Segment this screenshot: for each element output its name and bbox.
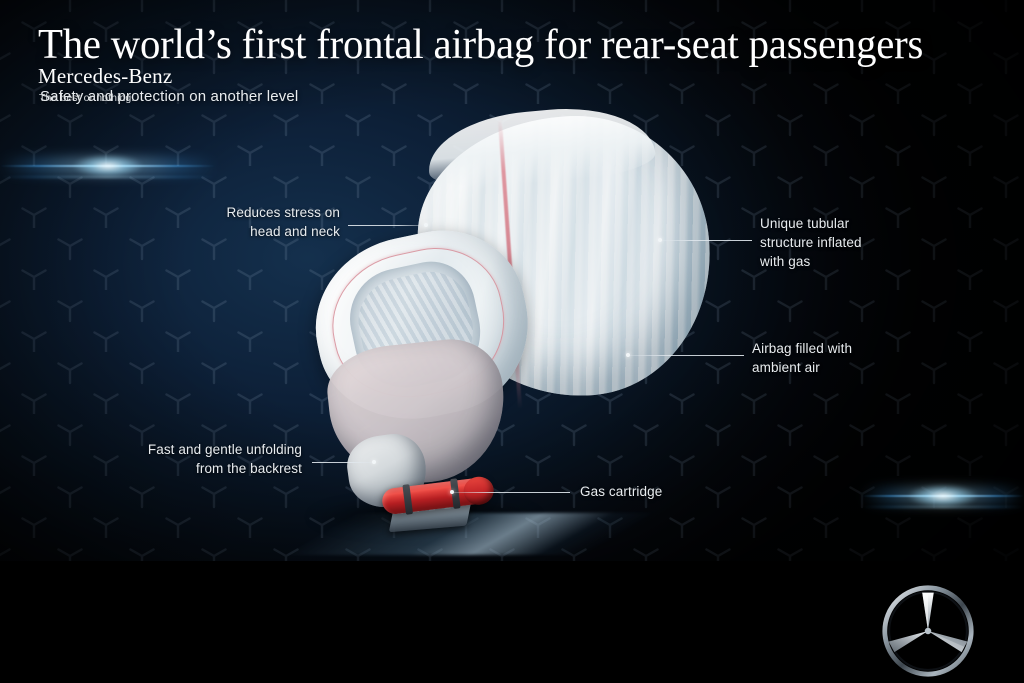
leader-dot-fast-unfolding (372, 460, 376, 464)
footer-bar (0, 561, 1024, 683)
page-title: The world’s first frontal airbag for rea… (38, 20, 923, 70)
infographic-root: Reduces stress on head and neck Unique t… (0, 0, 1024, 683)
callout-unique-tubular: Unique tubular structure inflated with g… (760, 214, 930, 271)
leader-line-unique-tubular (660, 240, 752, 241)
leader-dot-reduces-stress (424, 223, 428, 227)
brand-tagline: The best or nothing. (39, 92, 134, 104)
callout-reduces-stress: Reduces stress on head and neck (200, 203, 340, 241)
leader-line-ambient-air (628, 355, 744, 356)
callout-ambient-air: Airbag filled with ambient air (752, 339, 922, 377)
leader-line-reduces-stress (348, 225, 426, 226)
mercedes-benz-star-logo (880, 583, 976, 679)
leader-dot-unique-tubular (658, 238, 662, 242)
callout-gas-cartridge: Gas cartridge (580, 482, 730, 501)
reflective-floor (286, 513, 653, 555)
leader-line-gas-cartridge (452, 492, 570, 493)
leader-dot-gas-cartridge (450, 490, 454, 494)
cartridge-band (402, 484, 413, 515)
leader-line-fast-unfolding (312, 462, 374, 463)
brand-wordmark: Mercedes-Benz (38, 64, 172, 89)
callout-fast-unfolding: Fast and gentle unfolding from the backr… (120, 440, 302, 478)
leader-dot-ambient-air (626, 353, 630, 357)
